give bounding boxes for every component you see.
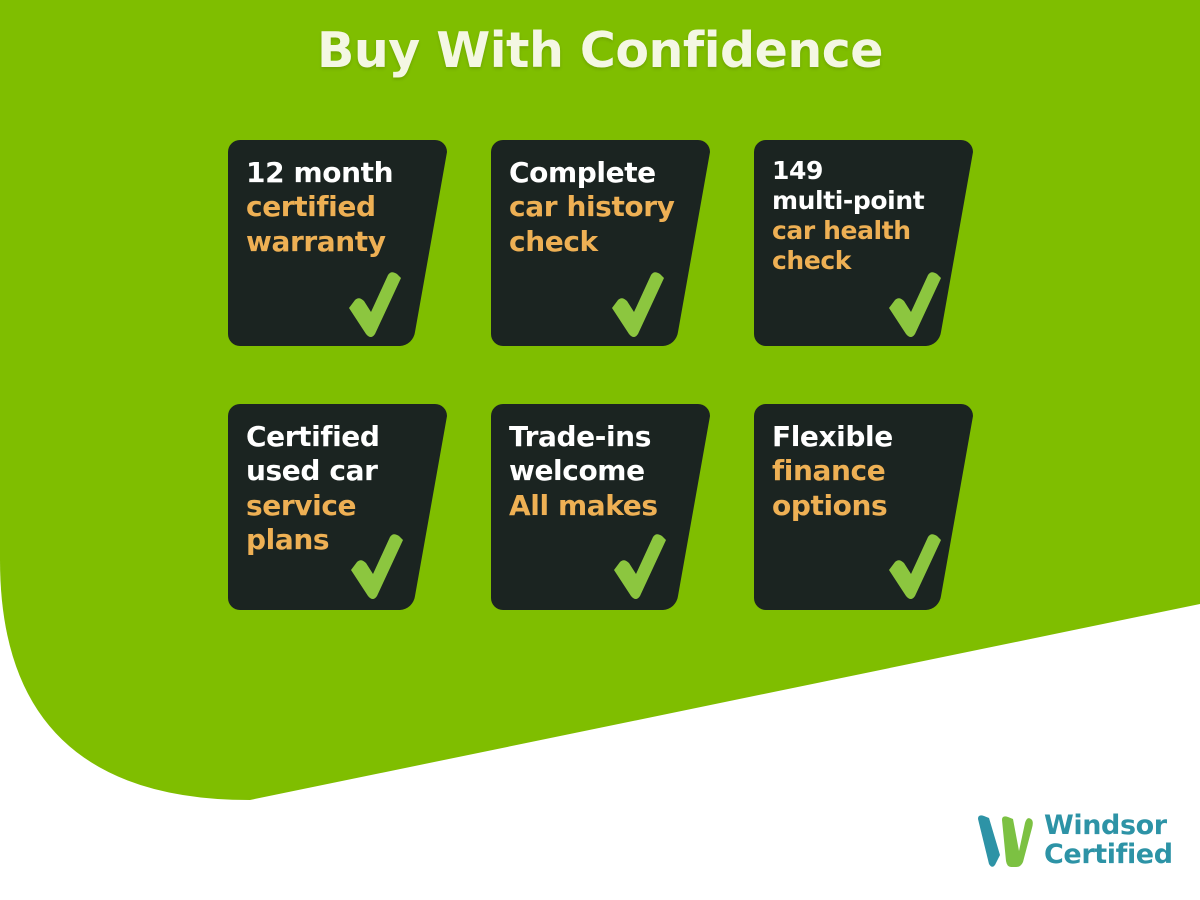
card-line: multi-point (772, 186, 959, 216)
card-text: Flexible finance options (772, 420, 959, 523)
card-text: Complete car history check (509, 156, 696, 259)
logo-line-1: Windsor (1044, 812, 1173, 841)
card-line: check (772, 246, 959, 276)
benefit-card[interactable]: Flexible finance options (754, 404, 973, 610)
card-line: Certified (246, 420, 433, 454)
card-text: Certified used car service plans (246, 420, 433, 558)
windsor-w-mark-icon (975, 815, 1033, 867)
benefit-card[interactable]: Complete car history check (491, 140, 710, 346)
benefit-card[interactable]: Certified used car service plans (228, 404, 447, 610)
poster-canvas: Buy With Confidence 12 month certified w… (0, 0, 1200, 900)
benefit-card[interactable]: 12 month certified warranty (228, 140, 447, 346)
card-line: 12 month (246, 156, 433, 190)
card-text: 12 month certified warranty (246, 156, 433, 259)
card-line: plans (246, 523, 433, 557)
page-title: Buy With Confidence (0, 22, 1200, 79)
card-line: service (246, 489, 433, 523)
benefit-card[interactable]: 149 multi-point car health check (754, 140, 973, 346)
benefits-grid: 12 month certified warranty Complete car… (228, 140, 968, 610)
card-line: 149 (772, 156, 959, 186)
card-text: Trade-ins welcome All makes (509, 420, 696, 523)
card-line: Flexible (772, 420, 959, 454)
card-line: Complete (509, 156, 696, 190)
card-line: used car (246, 454, 433, 488)
benefits-row-1: 12 month certified warranty Complete car… (228, 140, 968, 346)
card-line: car history (509, 190, 696, 224)
brand-logo[interactable]: Windsor Certified (975, 812, 1173, 869)
card-line: car health (772, 216, 959, 246)
logo-wordmark: Windsor Certified (1044, 812, 1173, 869)
card-line: certified (246, 190, 433, 224)
card-line: options (772, 489, 959, 523)
card-line: All makes (509, 489, 696, 523)
benefits-row-2: Certified used car service plans Trade-i… (228, 404, 968, 610)
card-line: finance (772, 454, 959, 488)
logo-line-2: Certified (1044, 841, 1173, 870)
benefit-card[interactable]: Trade-ins welcome All makes (491, 404, 710, 610)
card-text: 149 multi-point car health check (772, 156, 959, 276)
card-line: warranty (246, 225, 433, 259)
card-line: check (509, 225, 696, 259)
card-line: welcome (509, 454, 696, 488)
card-line: Trade-ins (509, 420, 696, 454)
